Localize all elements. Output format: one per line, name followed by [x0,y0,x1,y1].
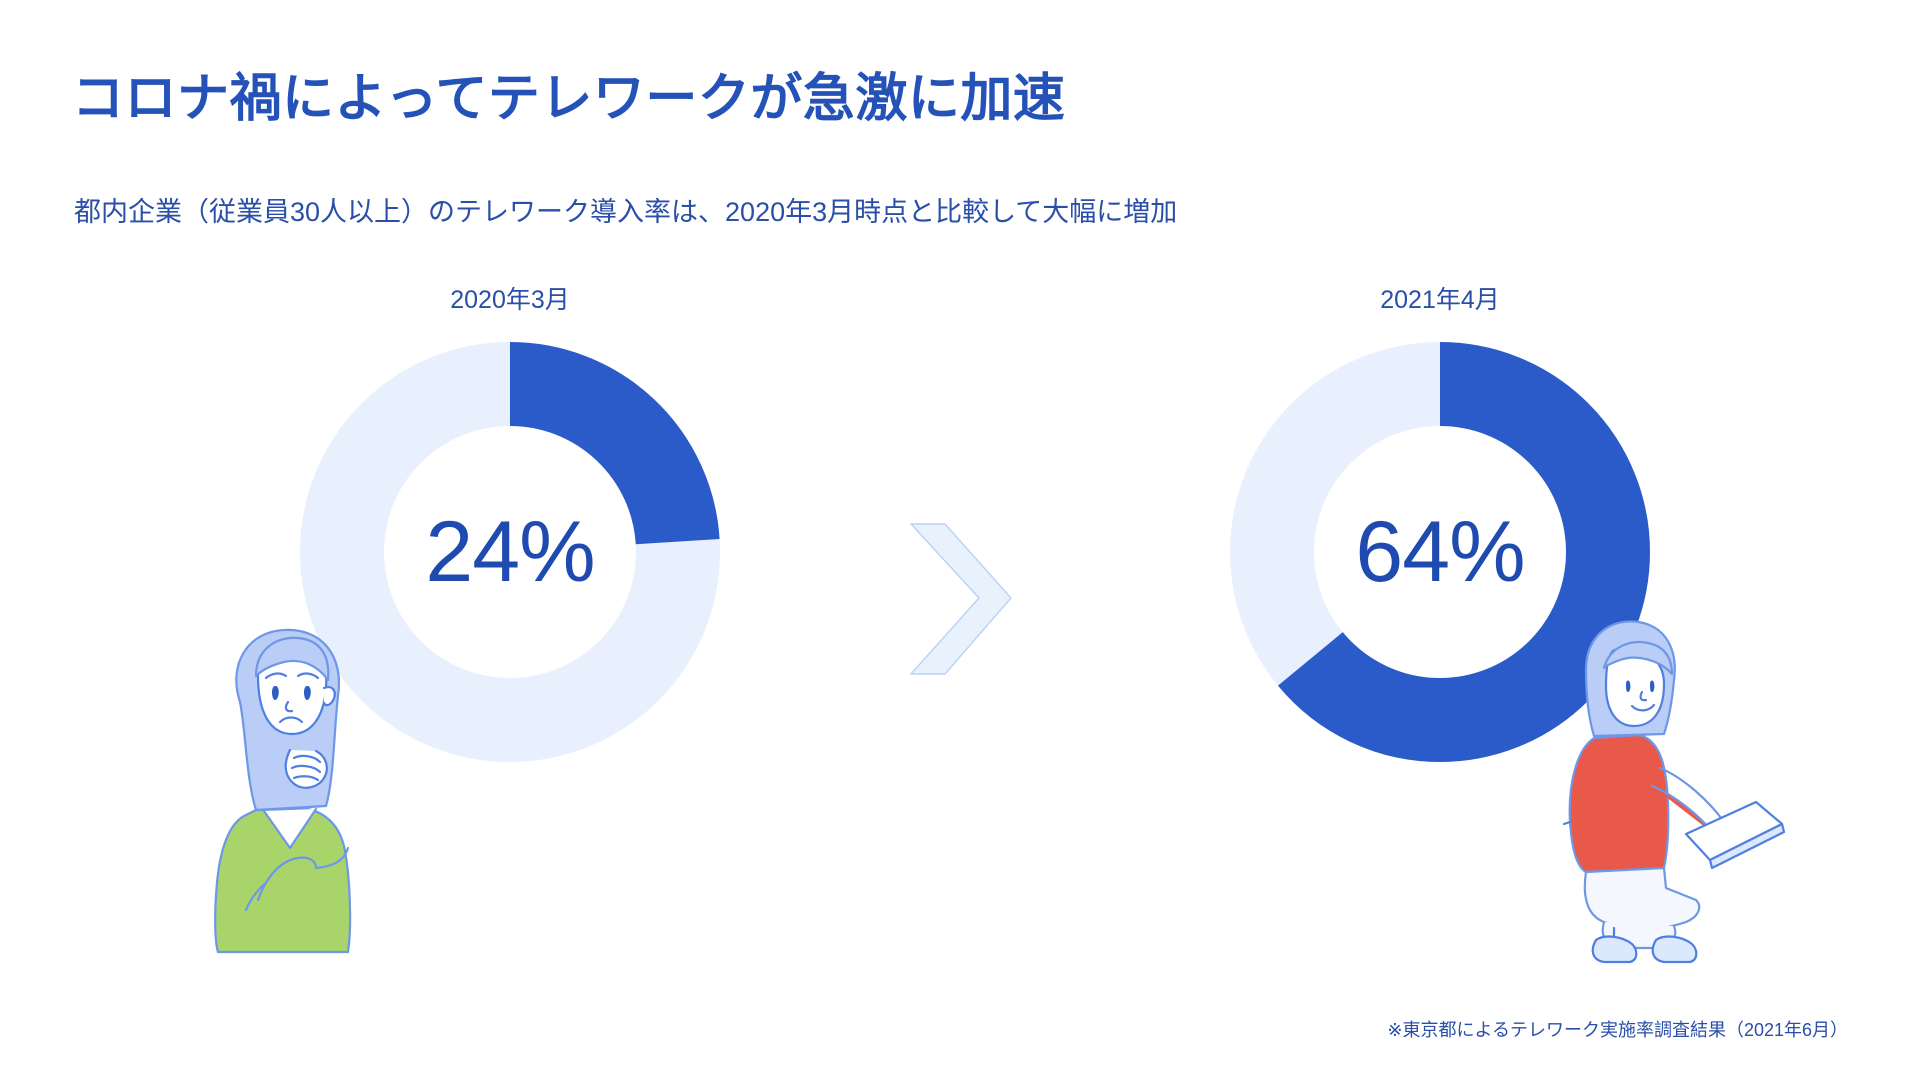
donut-label-2020-03: 2020年3月 [270,280,750,316]
page-title: コロナ禍によってテレワークが急激に加速 [72,56,1065,131]
donut-label-2021-04: 2021年4月 [1200,280,1680,316]
page-subtitle: 都内企業（従業員30人以上）のテレワーク導入率は、2020年3月時点と比較して大… [74,190,1177,229]
source-footnote: ※東京都によるテレワーク実施率調査結果（2021年6月） [1387,1016,1848,1042]
worried-person-illustration [198,610,398,955]
person-with-laptop-illustration [1560,610,1790,970]
slide-canvas: コロナ禍によってテレワークが急激に加速 都内企業（従業員30人以上）のテレワーク… [0,0,1920,1080]
chevron-right-icon [905,520,1015,680]
